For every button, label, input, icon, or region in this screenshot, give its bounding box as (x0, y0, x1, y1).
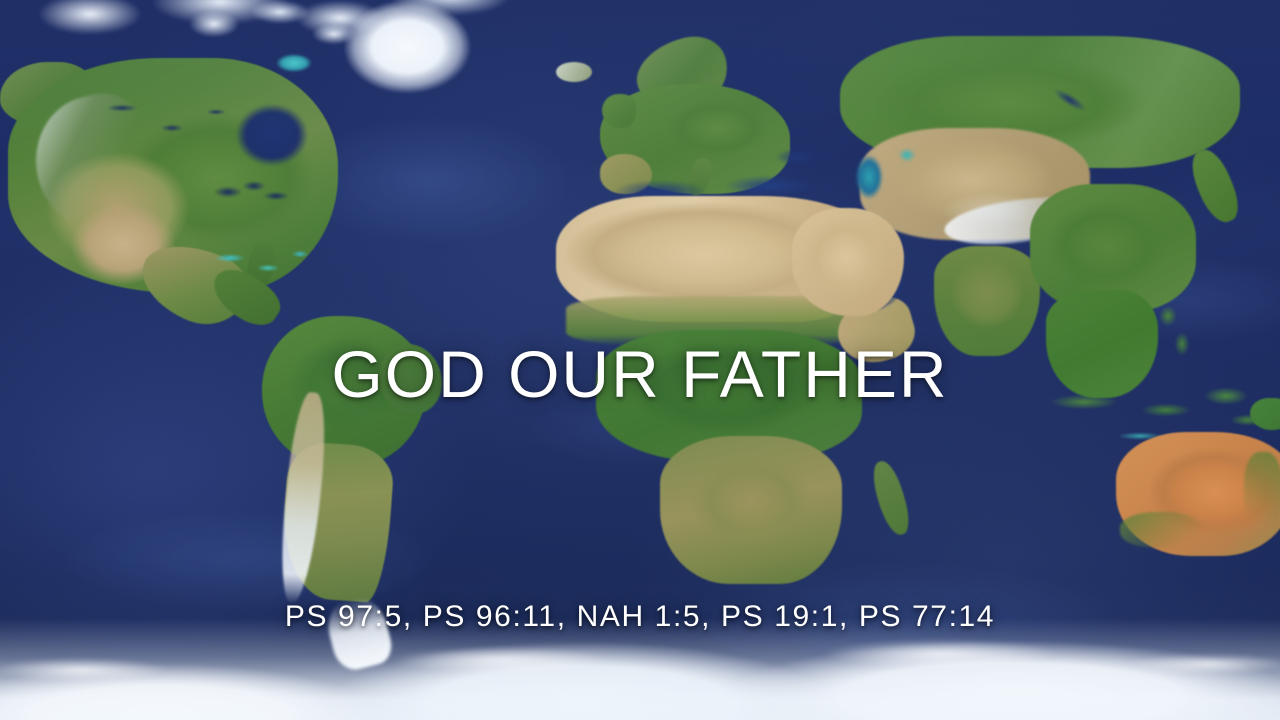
great-lakes (214, 176, 290, 210)
presentation-slide: GOD OUR FATHER PS 97:5, PS 96:11, NAH 1:… (0, 0, 1280, 720)
antarctic-ice-ridge (0, 630, 1280, 686)
canadian-lakes (98, 90, 248, 160)
black-sea (770, 146, 826, 168)
hudson-bay-shallows (272, 52, 316, 74)
indian-subcontinent (934, 246, 1040, 356)
british-isles (602, 94, 636, 128)
iceland (556, 62, 592, 82)
southern-africa (660, 436, 842, 584)
arabian-peninsula (792, 208, 904, 316)
caspian-sea (852, 150, 886, 204)
philippines (1154, 300, 1198, 366)
aral-sea (896, 146, 918, 164)
australia-southwest-coast (1120, 512, 1202, 548)
australia-east-coast (1244, 452, 1280, 532)
caribbean-reefs (212, 246, 320, 286)
